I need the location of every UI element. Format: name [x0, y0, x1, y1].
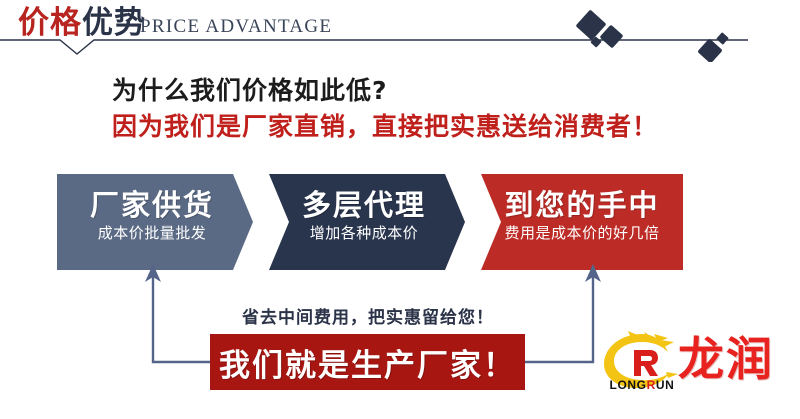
logo-english-text: LONGRUN: [600, 378, 684, 392]
page-subtitle: PRICE ADVANTAGE: [140, 16, 332, 38]
savings-note: 省去中间费用，把实惠留给您！: [0, 303, 736, 328]
logo-chinese-text: 龙润: [678, 332, 774, 386]
page-title: 价格优势: [18, 4, 146, 42]
flow-box-1-shape: [57, 174, 253, 270]
logo-en-post: UN: [656, 378, 675, 392]
answer-line: 因为我们是厂家直销，直接把实惠送给消费者！: [112, 107, 658, 143]
page-title-dark: 优势: [82, 5, 146, 41]
price-advantage-banner: 价格优势 PRICE ADVANTAGE 为什么我们价格如此低? 因为我们是厂家…: [0, 0, 800, 419]
diamond-decoration-icon: [560, 6, 740, 62]
flow-box-2-shape: [269, 174, 465, 270]
supply-chain-flow: 厂家供货 成本价批量批发 多层代理 增加各种成本价 到您的手中 费用是成本价的好…: [57, 174, 683, 270]
manufacturer-banner-text: 我们就是生产厂家！: [219, 340, 516, 385]
flow-box-3-shape: [481, 174, 683, 270]
page-title-red: 价格: [18, 5, 82, 41]
flow-shapes: [57, 174, 683, 270]
manufacturer-banner: 我们就是生产厂家！: [210, 334, 525, 390]
logo-en-r: R: [647, 378, 656, 392]
question-line: 为什么我们价格如此低?: [112, 71, 388, 107]
logo-en-pre: LONG: [610, 378, 647, 392]
brand-logo: LONGRUN 龙润: [598, 328, 794, 408]
